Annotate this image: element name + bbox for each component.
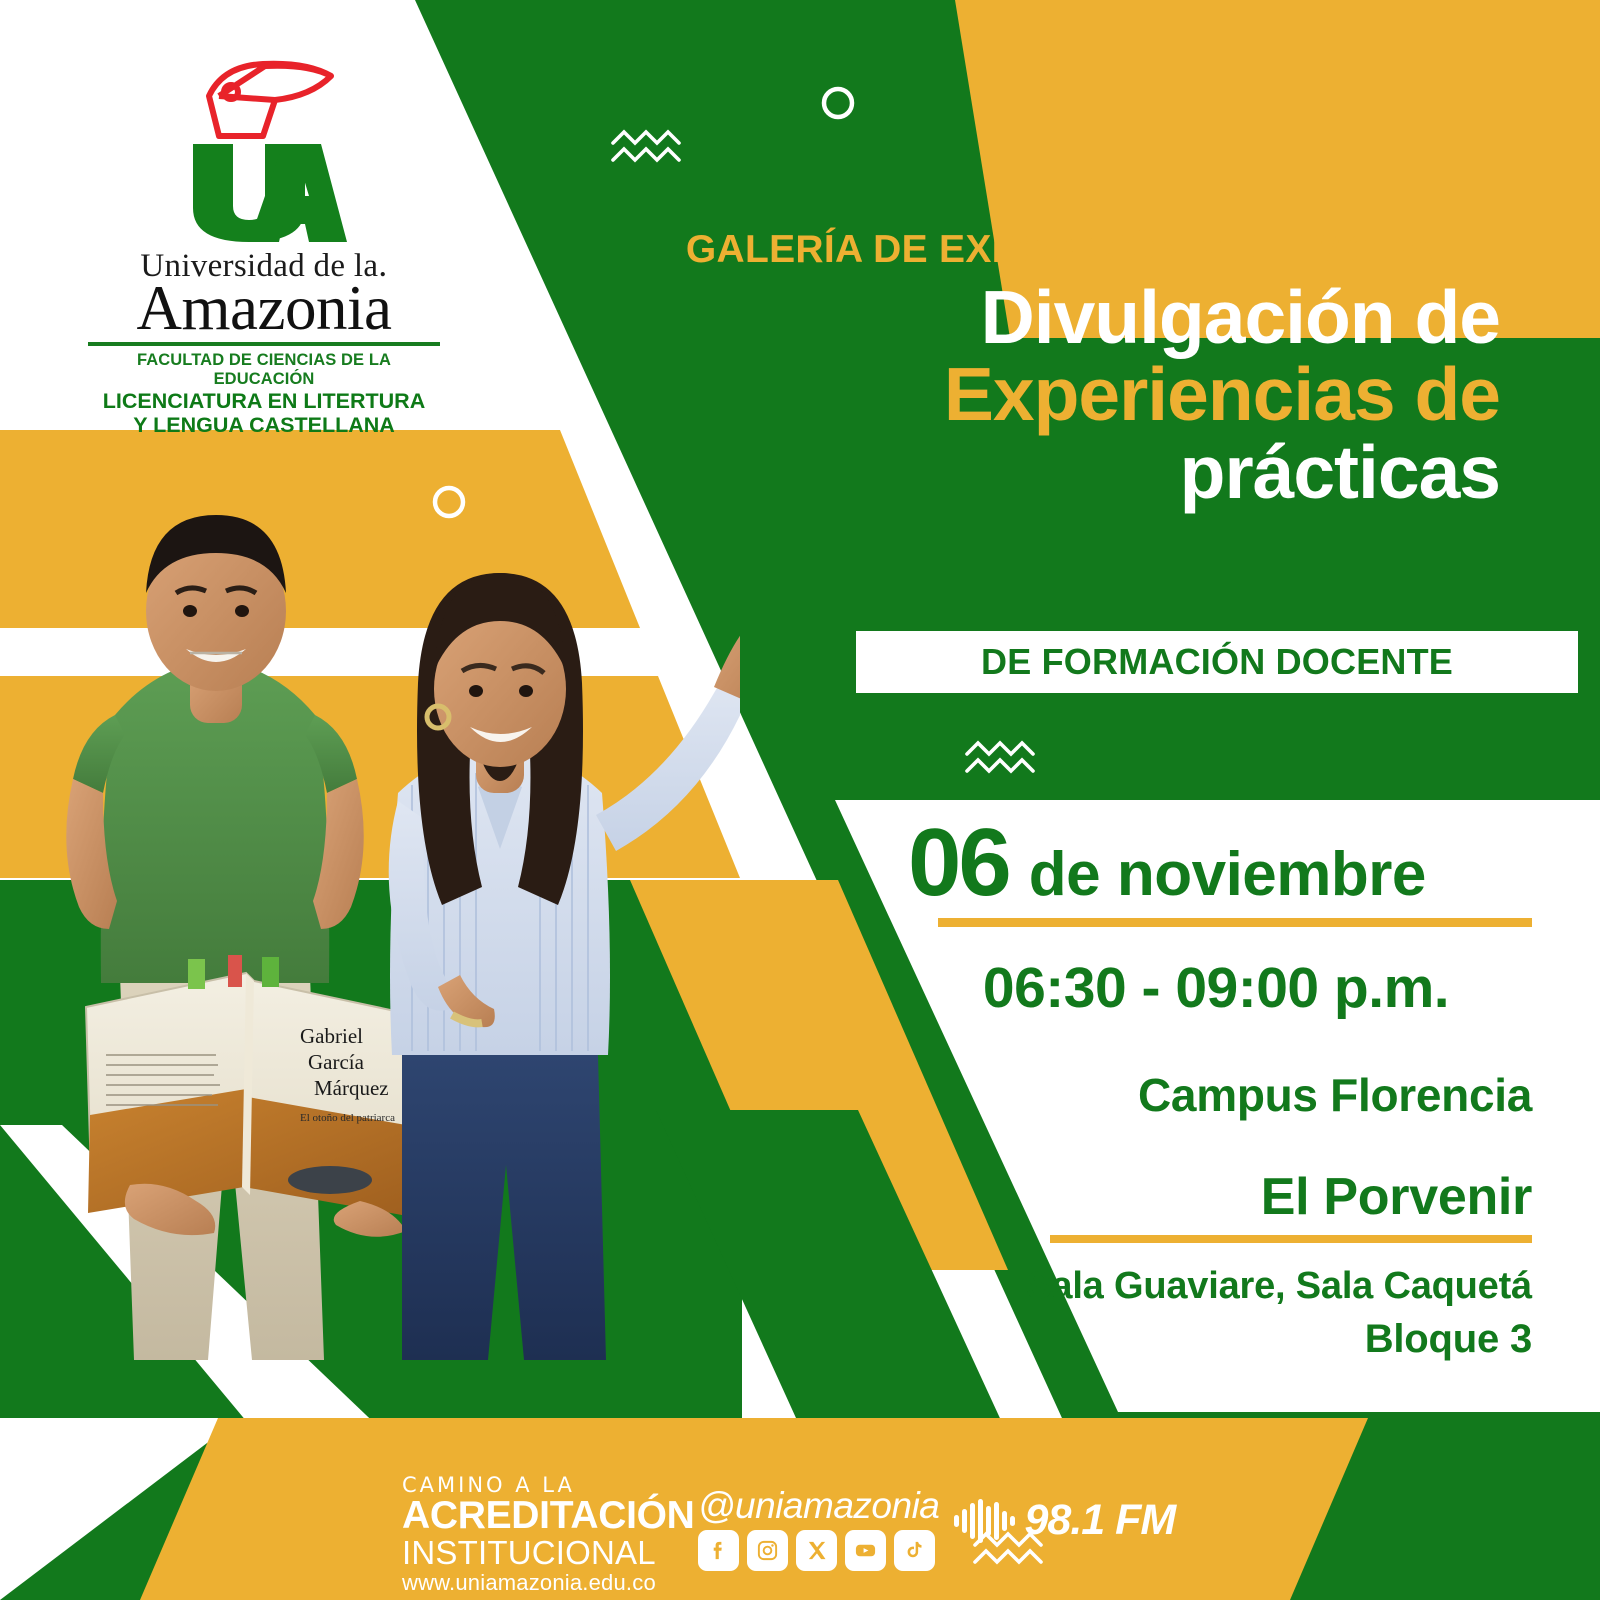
student-female xyxy=(389,569,740,1360)
title-line-2: Experiencias de xyxy=(700,359,1500,430)
event-subtitle-band: DE FORMACIÓN DOCENTE xyxy=(856,631,1578,693)
x-twitter-icon[interactable] xyxy=(796,1530,837,1571)
female-raised-sleeve xyxy=(596,678,740,851)
bookmark-green xyxy=(188,959,205,989)
accreditation-block: CAMINO A LA ACREDITACIÓN INSTITUCIONAL w… xyxy=(402,1475,702,1597)
female-jeans xyxy=(402,1055,606,1360)
bookmark-green-2 xyxy=(262,957,279,987)
youtube-icon[interactable] xyxy=(845,1530,886,1571)
book-title: El otoño del patriarca xyxy=(300,1112,395,1124)
male-eye-left xyxy=(183,605,197,617)
facebook-icon[interactable] xyxy=(698,1530,739,1571)
book-author-line1: Gabriel xyxy=(300,1024,363,1048)
event-details: 06 de noviembre 06:30 - 09:00 p.m. Campu… xyxy=(900,820,1532,1362)
audio-wave-icon xyxy=(954,1499,1015,1543)
event-subtitle: DE FORMACIÓN DOCENTE xyxy=(981,641,1453,683)
detail-divider-1 xyxy=(938,918,1532,927)
title-line-1: Divulgación de xyxy=(700,282,1500,353)
female-eye-left xyxy=(469,685,483,697)
female-forearm-raised xyxy=(714,611,740,701)
social-icons xyxy=(698,1530,939,1571)
event-time: 06:30 - 09:00 p.m. xyxy=(900,955,1532,1021)
students-photo: Gabriel García Márquez El otoño del patr… xyxy=(0,415,740,1360)
accreditation-line3: INSTITUCIONAL xyxy=(402,1536,702,1570)
university-name-text: Universidad de la xyxy=(140,248,378,284)
event-campus-line1: Campus Florencia xyxy=(900,1071,1532,1120)
book-author-line3: Márquez xyxy=(314,1076,389,1100)
accreditation-line2: ACREDITACIÓN xyxy=(402,1496,702,1536)
event-poster: Gabriel García Márquez El otoño del patr… xyxy=(0,0,1600,1600)
detail-divider-2 xyxy=(1050,1235,1532,1243)
book-author-line2: García xyxy=(308,1050,365,1074)
accreditation-line1: CAMINO A LA xyxy=(402,1475,702,1496)
book-art-object xyxy=(288,1166,372,1194)
university-logo: Universidad de la. Amazonia FACULTAD DE … xyxy=(88,52,440,437)
program-label-line2: Y LENGUA CASTELLANA xyxy=(88,414,440,437)
radio-block: 98.1 FM xyxy=(954,1496,1175,1545)
male-eye-right xyxy=(235,605,249,617)
event-day: 06 xyxy=(908,820,1009,906)
instagram-icon[interactable] xyxy=(747,1530,788,1571)
toucan-icon xyxy=(179,52,349,140)
program-label-line1: LICENCIATURA EN LITERTURA xyxy=(88,390,440,413)
event-kicker: GALERÍA DE EXPOSICIÓN MULTIMODAL xyxy=(652,228,1492,272)
event-month: de noviembre xyxy=(1029,844,1426,906)
event-title: Divulgación de Experiencias de prácticas xyxy=(700,282,1500,508)
event-campus-line2: El Porvenir xyxy=(900,1170,1532,1225)
radio-frequency: 98.1 FM xyxy=(1025,1496,1176,1545)
event-date: 06 de noviembre xyxy=(900,820,1532,906)
social-handle: @uniamazonia xyxy=(698,1487,939,1524)
university-name-line2: Amazonia xyxy=(88,279,440,339)
faculty-label: FACULTAD DE CIENCIAS DE LA EDUCACIÓN xyxy=(88,351,440,389)
student-male xyxy=(66,515,363,1360)
ua-monogram-icon xyxy=(179,136,349,246)
bookmark-red xyxy=(228,955,242,987)
event-block: Bloque 3 xyxy=(900,1317,1532,1362)
female-eye-right xyxy=(519,685,533,697)
tiktok-icon[interactable] xyxy=(894,1530,935,1571)
title-line-3: prácticas xyxy=(700,437,1500,508)
social-block: @uniamazonia xyxy=(698,1487,939,1571)
open-book: Gabriel García Márquez El otoño del patr… xyxy=(86,955,414,1237)
event-rooms: Sala Guaviare, Sala Caquetá xyxy=(900,1265,1532,1309)
logo-dot: . xyxy=(378,244,387,284)
university-name-line1: Universidad de la. xyxy=(88,250,440,283)
website-url[interactable]: www.uniamazonia.edu.co xyxy=(402,1570,702,1596)
